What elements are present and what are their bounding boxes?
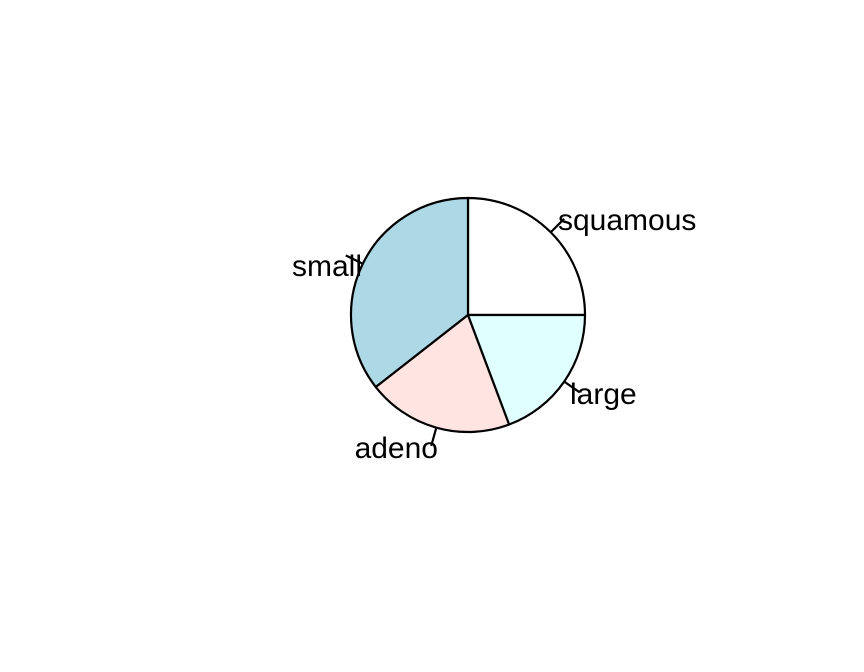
chart-canvas: squamoussmalladenolarge (0, 0, 864, 672)
pie-label-small: small (292, 250, 362, 283)
pie-label-adeno: adeno (355, 432, 438, 465)
pie-label-squamous: squamous (558, 204, 696, 237)
pie-slices-group (351, 198, 585, 432)
pie-chart: squamoussmalladenolarge (0, 0, 864, 672)
pie-label-large: large (570, 378, 637, 411)
